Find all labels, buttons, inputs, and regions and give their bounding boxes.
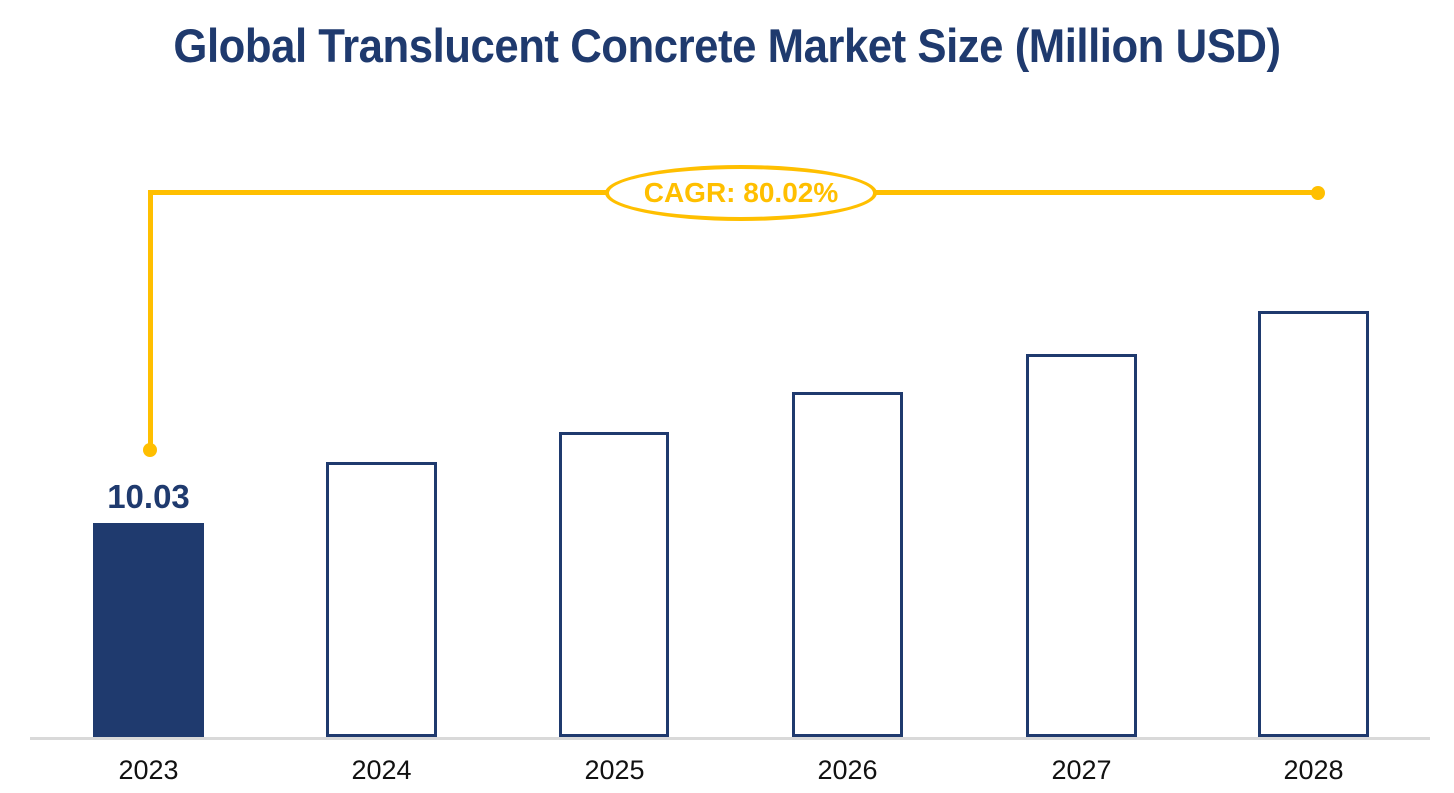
cagr-end-dot [1311,186,1325,200]
x-tick-2024: 2024 [316,755,447,786]
cagr-badge: CAGR: 80.02% [605,165,877,221]
bar-value-2023: 10.03 [93,478,204,516]
x-axis-line [30,737,1430,740]
x-tick-2026: 2026 [782,755,913,786]
bar-2028[interactable] [1258,311,1369,737]
cagr-horizontal-right [866,190,1321,195]
bar-2023[interactable] [93,523,204,737]
x-tick-2023: 2023 [83,755,214,786]
x-tick-2028: 2028 [1248,755,1379,786]
bar-2027[interactable] [1026,354,1137,737]
bar-2025[interactable] [559,432,669,737]
cagr-start-dot [143,443,157,457]
cagr-horizontal-left [148,190,613,195]
bar-2024[interactable] [326,462,437,737]
x-tick-2025: 2025 [549,755,680,786]
plot-area: CAGR: 80.02% 10.03 2023 2024 2025 2026 2… [0,0,1454,793]
cagr-badge-label: CAGR: 80.02% [644,177,839,209]
bar-2026[interactable] [792,392,903,737]
chart-canvas: Global Translucent Concrete Market Size … [0,0,1454,793]
cagr-left-stem [148,191,153,452]
x-tick-2027: 2027 [1016,755,1147,786]
